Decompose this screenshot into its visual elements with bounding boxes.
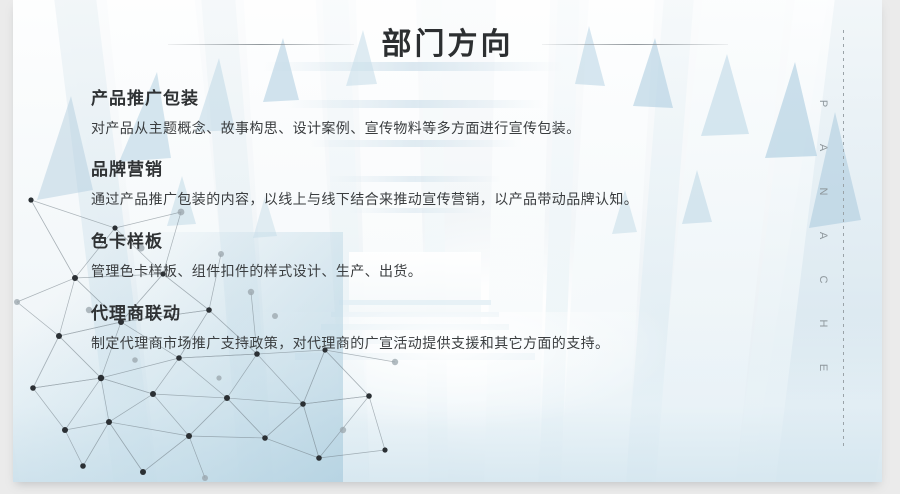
section-body: 制定代理商市场推广支持政策，对代理商的广宣活动提供支援和其它方面的支持。	[91, 333, 791, 353]
side-label-letter: E	[817, 357, 829, 379]
ceiling-beam	[263, 62, 563, 71]
section-heading: 产品推广包装	[91, 84, 791, 109]
section-heading: 品牌营销	[91, 155, 791, 180]
sections-list: 产品推广包装 对产品从主题概念、故事构思、设计案例、宣传物料等多方面进行宣传包装…	[91, 84, 791, 353]
section-body: 通过产品推广包装的内容，以线上与线下结合来推动宣传营销，以产品带动品牌认知。	[91, 189, 791, 209]
slide-card: 部门方向 产品推广包装 对产品从主题概念、故事构思、设计案例、宣传物料等多方面进…	[13, 0, 882, 482]
slide-stage: 部门方向 产品推广包装 对产品从主题概念、故事构思、设计案例、宣传物料等多方面进…	[0, 0, 900, 494]
section-agent-collaboration: 代理商联动 制定代理商市场推广支持政策，对代理商的广宣活动提供支援和其它方面的支…	[91, 299, 791, 353]
side-label-letter: C	[817, 269, 829, 291]
side-label-letter: A	[817, 225, 829, 247]
section-brand-marketing: 品牌营销 通过产品推广包装的内容，以线上与线下结合来推动宣传营销，以产品带动品牌…	[91, 155, 791, 209]
title-rule-right	[542, 44, 728, 45]
section-body: 管理色卡样板、组件扣件的样式设计、生产、出货。	[91, 261, 791, 281]
section-body: 对产品从主题概念、故事构思、设计案例、宣传物料等多方面进行宣传包装。	[91, 118, 791, 138]
side-label-letter: N	[817, 181, 829, 203]
section-product-promotion-packaging: 产品推广包装 对产品从主题概念、故事构思、设计案例、宣传物料等多方面进行宣传包装…	[91, 84, 791, 138]
side-label-rail: P A N A C H E	[812, 96, 856, 386]
side-label-letter: H	[817, 313, 829, 335]
vertical-dashed-divider	[843, 30, 844, 450]
title-block: 部门方向	[13, 28, 882, 61]
section-color-card-sample: 色卡样板 管理色卡样板、组件扣件的样式设计、生产、出货。	[91, 227, 791, 281]
title-rule-left	[168, 44, 354, 45]
section-heading: 色卡样板	[91, 227, 791, 252]
side-label-letter: P	[817, 93, 829, 115]
page-title: 部门方向	[354, 28, 542, 61]
side-label-letter: A	[817, 137, 829, 159]
section-heading: 代理商联动	[91, 299, 791, 324]
